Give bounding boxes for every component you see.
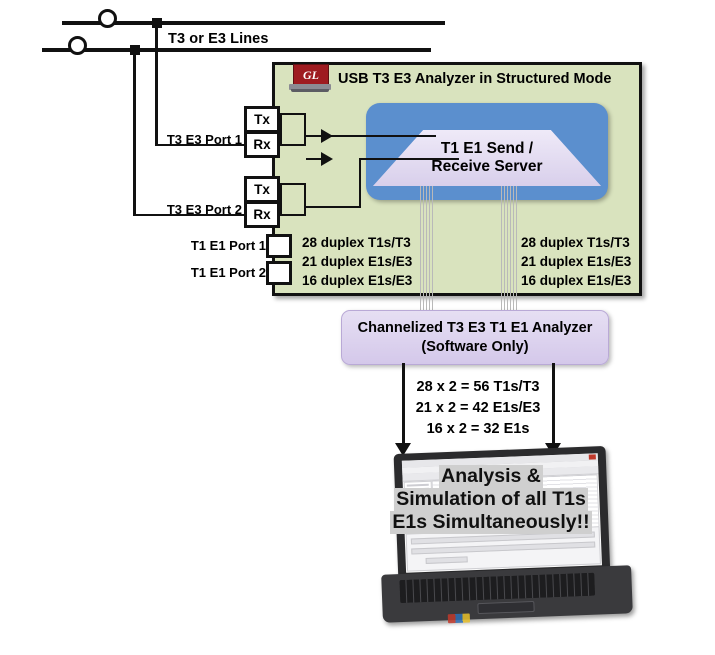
trunk-line-upper <box>62 21 445 25</box>
trunk-label: T3 or E3 Lines <box>168 31 269 47</box>
capacity-left-line-1: 28 duplex T1s/T3 <box>302 233 412 252</box>
app-bottom-bar-3 <box>426 557 468 565</box>
port2-signal-line-into-server <box>359 158 459 160</box>
overlay-line-1: Analysis & <box>439 465 543 488</box>
totals-line-3: 16 x 2 = 32 E1s <box>388 419 568 440</box>
laptop-illustration: Analysis & Simulation of all T1s E1s Sim… <box>382 448 650 618</box>
ribbon-bundle-left <box>420 186 434 314</box>
laptop-keyboard-base <box>381 565 633 623</box>
trunk-line-lower <box>42 48 431 52</box>
overlay-line-3: E1s Simultaneously!! <box>390 511 591 534</box>
server-label-line2: Receive Server <box>431 158 542 176</box>
port2-rx-box: Rx <box>244 201 280 228</box>
trunk-upper-ring-connector <box>98 9 117 28</box>
gl-logo-base-foot <box>291 89 329 92</box>
port1-rx-box: Rx <box>244 131 280 158</box>
gl-logo: GL <box>289 64 331 94</box>
port-label-t3e3-2: T3 E3 Port 2 <box>160 202 242 217</box>
port2-internal-connector <box>280 183 306 216</box>
overlay-line-2: Simulation of all T1s <box>394 488 588 511</box>
capacity-left-column: 28 duplex T1s/T3 21 duplex E1s/E3 16 dup… <box>302 233 412 290</box>
analyzer-title: USB T3 E3 Analyzer in Structured Mode <box>338 71 611 87</box>
totals-text-block: 28 x 2 = 56 T1s/T3 21 x 2 = 42 E1s/E3 16… <box>388 377 568 440</box>
capacity-left-line-2: 21 duplex E1s/E3 <box>302 252 412 271</box>
channelized-line2: (Software Only) <box>421 338 528 356</box>
channelized-analyzer-box: Channelized T3 E3 T1 E1 Analyzer (Softwa… <box>341 310 609 365</box>
port2-signal-arrow-stub <box>306 158 326 160</box>
trunk-lower-ring-connector <box>68 36 87 55</box>
t1e1-port1-box <box>266 234 292 258</box>
port1-tx-box: Tx <box>244 106 280 133</box>
totals-line-1: 28 x 2 = 56 T1s/T3 <box>388 377 568 398</box>
gl-logo-text: GL <box>303 69 319 81</box>
diagram-canvas: T3 or E3 Lines GL USB T3 E3 Analyzer in … <box>0 0 715 655</box>
port2-tx-box: Tx <box>244 176 280 203</box>
server-label-line1: T1 E1 Send / <box>441 140 533 158</box>
capacity-right-column: 28 duplex T1s/T3 21 duplex E1s/E3 16 dup… <box>521 233 631 290</box>
capacity-right-line-3: 16 duplex E1s/E3 <box>521 271 631 290</box>
totals-line-2: 21 x 2 = 42 E1s/E3 <box>388 398 568 419</box>
capacity-right-line-1: 28 duplex T1s/T3 <box>521 233 631 252</box>
gl-logo-screen: GL <box>293 64 329 86</box>
channelized-line1: Channelized T3 E3 T1 E1 Analyzer <box>358 319 593 337</box>
laptop-sticker-icon <box>448 614 470 624</box>
capacity-left-line-3: 16 duplex E1s/E3 <box>302 271 412 290</box>
laptop-keys <box>399 572 595 602</box>
t1e1-port2-box <box>266 261 292 285</box>
port-label-t3e3-1: T3 E3 Port 1 <box>160 132 242 147</box>
port1-internal-connector <box>280 113 306 146</box>
laptop-overlay-text: Analysis & Simulation of all T1s E1s Sim… <box>386 465 596 534</box>
port-label-t1e1-2: T1 E1 Port 2 <box>186 265 266 280</box>
capacity-right-line-2: 21 duplex E1s/E3 <box>521 252 631 271</box>
drop-line-port2-vertical <box>133 50 136 216</box>
port2-signal-line-horizontal <box>306 206 361 208</box>
port1-signal-arrowhead <box>321 129 333 143</box>
port-label-t1e1-1: T1 E1 Port 1 <box>186 238 266 253</box>
port2-signal-line-vertical <box>359 158 361 207</box>
close-icon[interactable] <box>589 454 596 459</box>
ribbon-bundle-right <box>501 186 517 314</box>
laptop-touchpad <box>477 601 534 615</box>
drop-line-port1-vertical <box>155 23 158 145</box>
